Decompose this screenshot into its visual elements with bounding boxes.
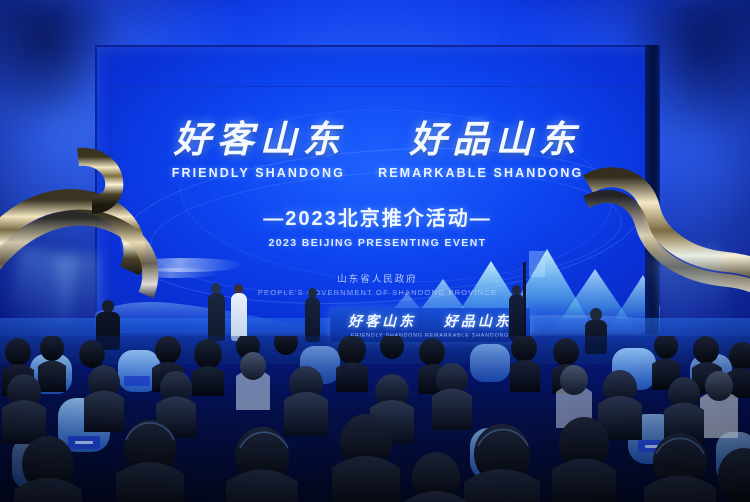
headline-cn-left: 好客山东	[174, 117, 346, 161]
headline-cn-right: 好品山东	[409, 117, 581, 161]
headline-english: FRIENDLY SHANDONG REMARKABLE SHANDONG	[95, 166, 660, 180]
podium-cn-right: 好品山东	[444, 314, 512, 330]
stage-person-host-female	[231, 284, 247, 341]
stage-photo: 好客山东 好品山东 FRIENDLY SHANDONG REMARKABLE S…	[0, 0, 750, 502]
stage-person-guest-left	[305, 288, 320, 342]
headline-en-right: REMARKABLE SHANDONG	[378, 166, 583, 180]
podium-cn-left: 好客山东	[348, 314, 416, 330]
body	[208, 293, 225, 341]
stage-person-guest-right	[509, 285, 524, 340]
organizer-chinese: 山东省人民政府	[95, 271, 660, 285]
event-subtitle-chinese: —2023北京推介活动—	[95, 202, 660, 231]
organizer-english: PEOPLE'S GOVERNMENT OF SHANDONG PROVINCE	[95, 288, 660, 297]
stage-person-host-male	[208, 283, 225, 341]
headline-chinese: 好客山东 好品山东	[95, 118, 660, 161]
event-subtitle-english: 2023 BEIJING PRESENTING EVENT	[95, 237, 660, 249]
led-headline-block: 好客山东 好品山东 FRIENDLY SHANDONG REMARKABLE S…	[95, 118, 660, 297]
body	[231, 293, 247, 341]
podium-banner-chinese: 好客山东 好品山东	[348, 311, 512, 331]
audience-area	[0, 336, 750, 502]
body	[509, 294, 524, 340]
headline-en-left: FRIENDLY SHANDONG	[172, 166, 345, 180]
